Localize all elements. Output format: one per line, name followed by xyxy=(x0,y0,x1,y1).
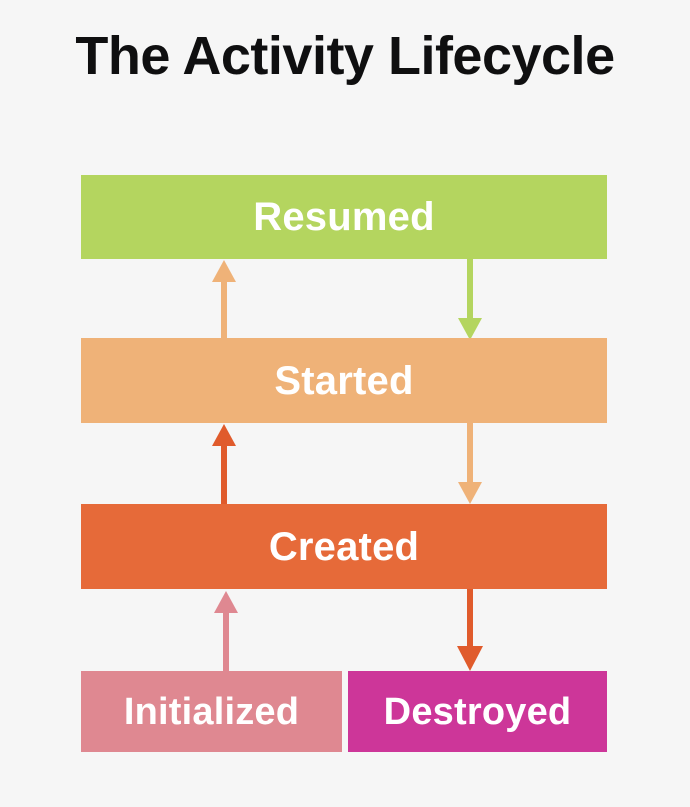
state-box-resumed[interactable]: Resumed xyxy=(81,175,607,259)
arrow-created-to-started xyxy=(208,422,240,506)
state-label-resumed: Resumed xyxy=(253,197,434,237)
state-box-started[interactable]: Started xyxy=(81,338,607,423)
arrow-started-to-created xyxy=(454,422,486,506)
state-label-created: Created xyxy=(269,527,419,567)
state-label-initialized: Initialized xyxy=(124,693,299,731)
state-box-destroyed[interactable]: Destroyed xyxy=(348,671,607,752)
state-label-started: Started xyxy=(274,361,413,401)
arrow-started-to-resumed xyxy=(208,258,240,342)
arrow-created-to-destroyed xyxy=(454,588,486,672)
state-box-initialized[interactable]: Initialized xyxy=(81,671,342,752)
arrow-resumed-to-started xyxy=(454,258,486,342)
state-label-destroyed: Destroyed xyxy=(384,693,572,731)
page-title: The Activity Lifecycle xyxy=(0,28,690,85)
state-box-created[interactable]: Created xyxy=(81,504,607,589)
diagram-canvas: The Activity Lifecycle xyxy=(0,0,690,807)
arrow-initialized-to-created xyxy=(210,589,242,673)
